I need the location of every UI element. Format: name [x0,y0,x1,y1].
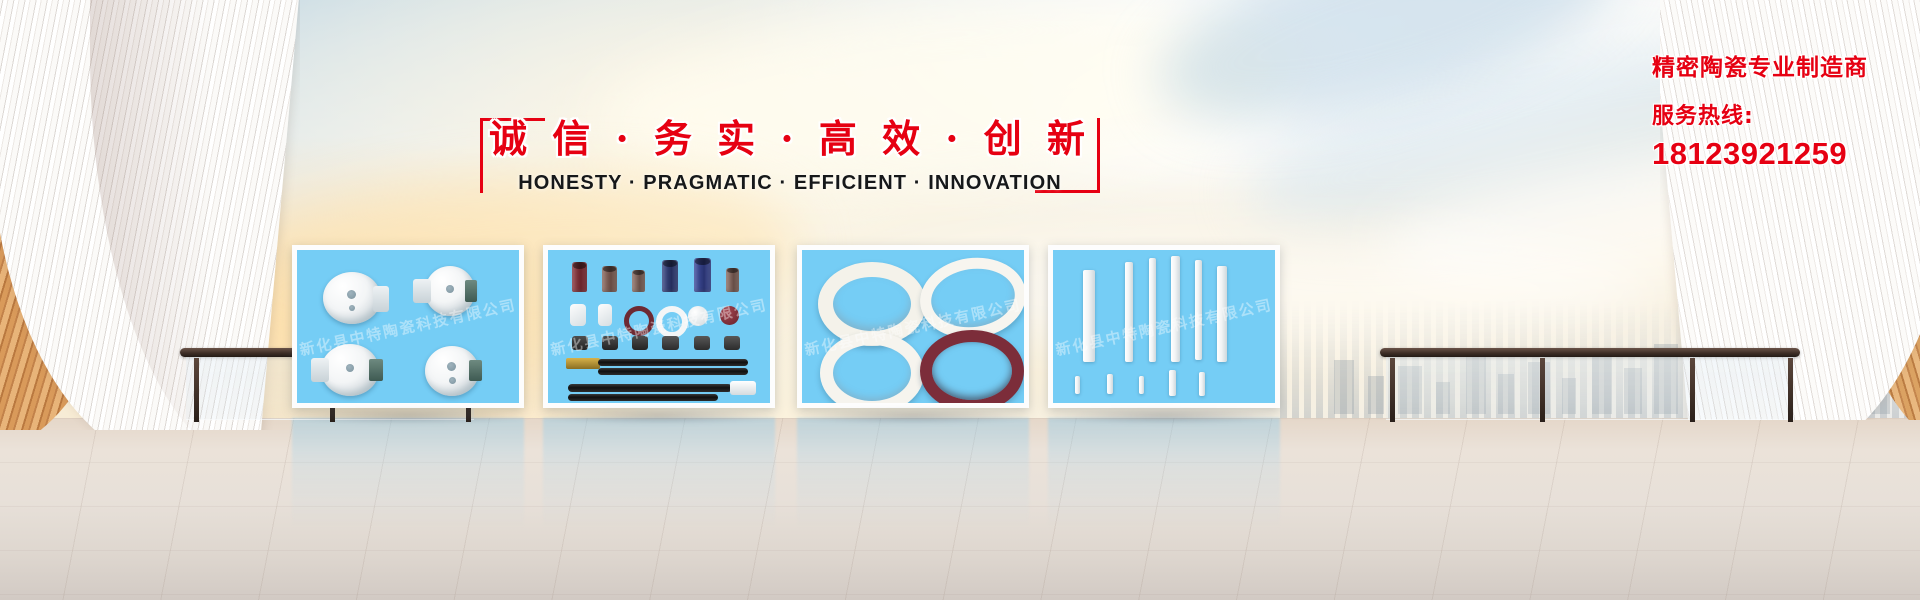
product-panel-2[interactable]: 新化县中特陶瓷科技有限公司 [543,245,775,408]
ceramic-ring-large [820,332,924,408]
ceramic-rod-short [1075,376,1080,394]
ceramic-tube [726,268,739,292]
connector-terminal [724,336,740,350]
panel-drop-shadow [1048,408,1280,424]
product-panel-4[interactable]: 新化县中特陶瓷科技有限公司 [1048,245,1280,408]
ceramic-rod [1171,256,1180,362]
ceramic-rod [1083,270,1095,362]
ceramic-plate [598,304,612,326]
connector-terminal [572,336,588,350]
cable-connector [730,381,756,395]
cable-lead [568,394,718,401]
ceramic-ring-small [624,306,654,336]
connector-terminal [602,336,618,350]
ceramic-disc [688,306,708,326]
panel-drop-shadow [543,408,775,424]
ceramic-rod [1149,258,1156,362]
panel-drop-shadow [797,408,1029,424]
ceramic-socket-part [425,346,479,396]
ceramic-tube [694,258,711,292]
ceramic-tube [572,262,587,292]
ceramic-rod [1217,266,1227,362]
promo-banner: 诚 信 · 务 实 · 高 效 · 创 新 HONESTY · PRAGMATI… [0,0,1920,600]
ceramic-ring-small [656,306,688,338]
cable-lead [598,368,748,375]
ceramic-socket-part [425,266,475,316]
ceramic-plate [570,304,586,326]
ceramic-tube [632,270,645,292]
cable-lead [568,384,732,392]
product-panel-3[interactable]: 新化县中特陶瓷科技有限公司 [797,245,1029,408]
connector-terminal [694,336,710,350]
ceramic-rod-short [1199,372,1205,396]
connector-terminal [662,336,679,350]
ceramic-rod [1125,262,1133,362]
ceramic-tube [602,266,617,292]
cable-plug [566,358,600,369]
connector-terminal [632,336,648,350]
ceramic-disc [720,306,739,325]
ceramic-ring-large-red [920,330,1024,408]
product-panel-1[interactable]: 新化县中特陶瓷科技有限公司 [292,245,524,408]
product-panel-group: 新化县中特陶瓷科技有限公司 [0,0,1920,600]
ceramic-tube [662,260,678,292]
ceramic-rod-short [1107,374,1113,394]
ceramic-rod-short [1169,370,1176,396]
ceramic-socket-part [323,272,381,324]
ceramic-rod [1195,260,1202,360]
ceramic-rod-short [1139,376,1144,394]
cable-lead [598,359,748,366]
panel-drop-shadow [292,408,524,424]
ceramic-socket-part [321,344,379,396]
